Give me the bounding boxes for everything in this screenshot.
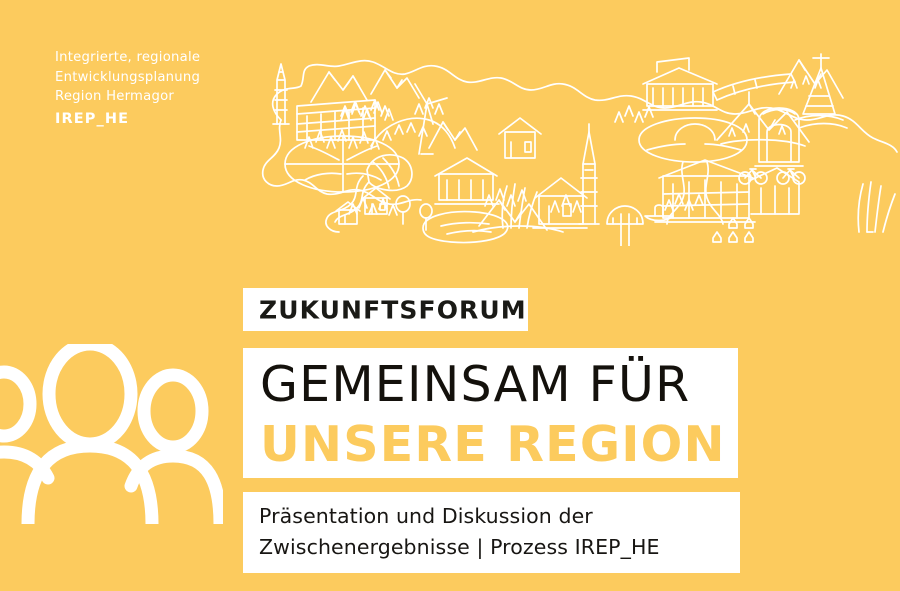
kicker-label: ZUKUNFTSFORUM [259, 295, 527, 324]
subtitle-inner: Präsentation und Diskussion der Zwischen… [259, 501, 660, 562]
headline-line-2: UNSERE REGION [260, 416, 726, 474]
three-people-outline-icon [0, 344, 223, 524]
subtitle-box: Präsentation und Diskussion der Zwischen… [243, 492, 740, 573]
kicker-box: ZUKUNFTSFORUM [243, 288, 528, 331]
headline-box: GEMEINSAM FÜR UNSERE REGION [243, 348, 738, 478]
logo-line-1: Integrierte, regionale [55, 48, 245, 68]
poster-canvas: Integrierte, regionale Entwicklungsplanu… [0, 0, 900, 591]
subtitle-line-1: Präsentation und Diskussion der [259, 501, 660, 532]
headline-line-1: GEMEINSAM FÜR [260, 354, 726, 416]
logo-code: IREP_HE [55, 109, 245, 130]
hand-drawn-region-map-illustration [243, 28, 900, 246]
headline-inner: GEMEINSAM FÜR UNSERE REGION [260, 354, 726, 474]
logo-block: Integrierte, regionale Entwicklungsplanu… [55, 48, 245, 130]
logo-line-2: Entwicklungsplanung [55, 68, 245, 88]
logo-line-3: Region Hermagor [55, 87, 245, 107]
subtitle-line-2: Zwischenergebnisse | Prozess IREP_HE [259, 532, 660, 563]
